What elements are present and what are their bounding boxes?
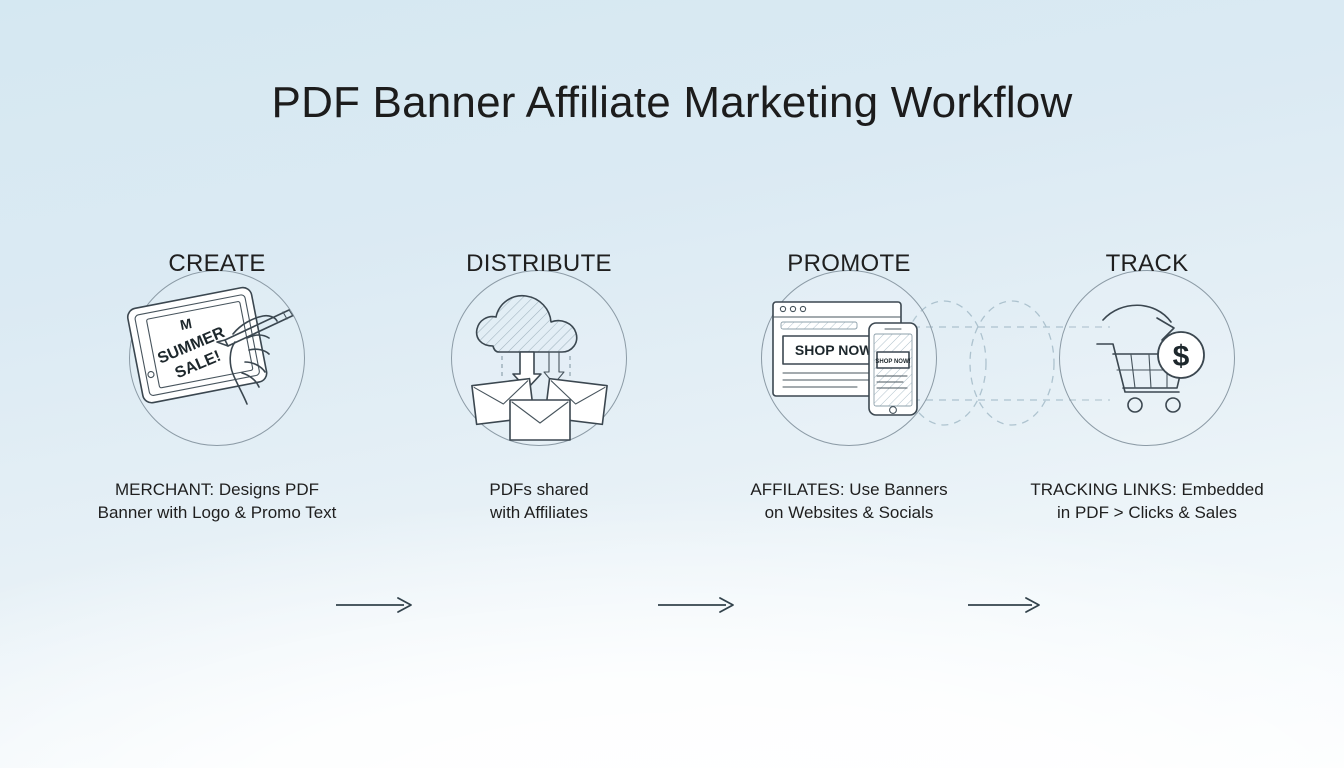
diagram-canvas: PDF Banner Affiliate Marketing Workflow …: [0, 0, 1344, 768]
page-title: PDF Banner Affiliate Marketing Workflow: [0, 78, 1344, 128]
step-create[interactable]: CREATE M SUMMER SALE!: [72, 250, 362, 550]
connector-distribute-to-promote: [654, 590, 744, 620]
caption-line-2: with Affiliates: [374, 501, 704, 524]
step-promote[interactable]: PROMOTE: [704, 250, 994, 550]
tablet-stylus-icon: M SUMMER SALE!: [129, 270, 305, 446]
caption-line-1: TRACKING LINKS: Embedded: [982, 478, 1312, 501]
connector-promote-to-track: [962, 590, 1052, 620]
caption-line-1: AFFILATES: Use Banners: [684, 478, 1014, 501]
phone-banner-text: SHOP NOW!: [875, 359, 910, 365]
workflow-steps: CREATE M SUMMER SALE!: [72, 250, 1272, 550]
step-caption-distribute: PDFs shared with Affiliates: [374, 478, 704, 524]
caption-line-2: on Websites & Socials: [684, 501, 1014, 524]
caption-line-2: Banner with Logo & Promo Text: [52, 501, 382, 524]
caption-line-2: in PDF > Clicks & Sales: [982, 501, 1312, 524]
step-caption-promote: AFFILATES: Use Banners on Websites & Soc…: [684, 478, 1014, 524]
step-caption-create: MERCHANT: Designs PDF Banner with Logo &…: [52, 478, 382, 524]
dollar-symbol-text: $: [1173, 340, 1190, 373]
caption-line-1: PDFs shared: [374, 478, 704, 501]
step-caption-track: TRACKING LINKS: Embedded in PDF > Clicks…: [982, 478, 1312, 524]
step-track[interactable]: TRACK: [1002, 250, 1292, 550]
cart-dollar-arrow-icon: $: [1059, 270, 1235, 446]
step-distribute[interactable]: DISTRIBUTE: [394, 250, 684, 550]
browser-phone-banner-icon: SHOP NOW! SHOP NOW!: [761, 270, 937, 446]
caption-line-1: MERCHANT: Designs PDF: [52, 478, 382, 501]
browser-banner-text: SHOP NOW!: [795, 342, 877, 358]
connector-create-to-distribute: [332, 590, 422, 620]
cloud-download-envelopes-icon: [451, 270, 627, 446]
